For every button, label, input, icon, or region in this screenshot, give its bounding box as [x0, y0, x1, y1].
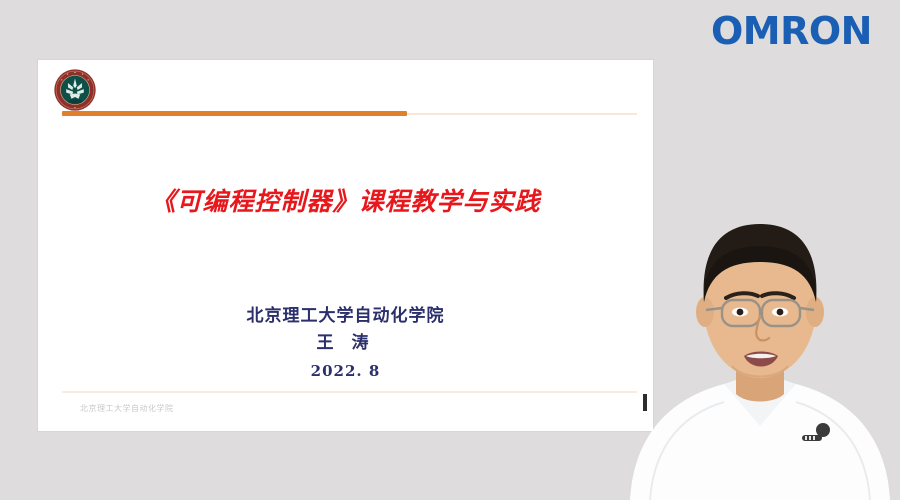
slide-page-marker: [643, 394, 647, 411]
presentation-slide: 《可编程控制器》课程教学与实践 北京理工大学自动化学院 王 涛 2022. 8 …: [38, 60, 653, 431]
lapel-microphone-icon: [802, 423, 830, 441]
slide-author: 王 涛: [38, 329, 653, 358]
slide-title: 《可编程控制器》课程教学与实践: [38, 182, 653, 218]
slide-date: 2022. 8: [38, 358, 653, 385]
omron-brand-logo: OMRON: [711, 12, 872, 50]
slide-organization: 北京理工大学自动化学院: [38, 303, 653, 329]
video-player-stage: OMRON: [0, 0, 900, 500]
slide-subtitle-block: 北京理工大学自动化学院 王 涛 2022. 8: [38, 303, 653, 385]
header-divider-thick: [62, 111, 407, 116]
header-divider: [62, 110, 637, 118]
university-emblem-icon: [50, 68, 100, 112]
presenter-video-overlay: [620, 190, 900, 500]
slide-footer-text: 北京理工大学自动化学院: [80, 403, 174, 414]
footer-divider: [62, 391, 637, 393]
